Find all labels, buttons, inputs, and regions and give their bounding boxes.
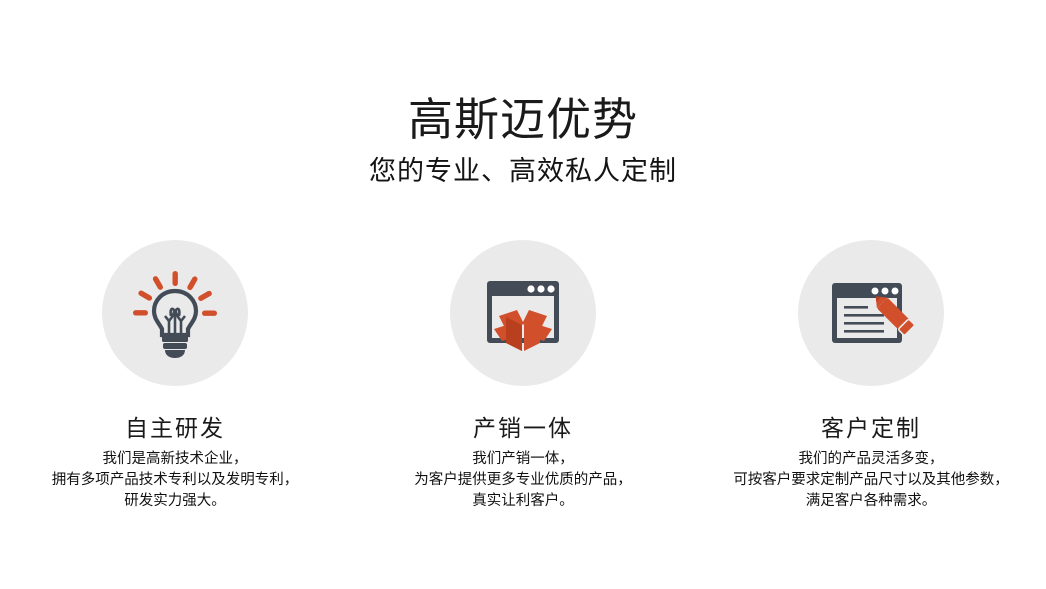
feature-desc-line: 为客户提供更多专业优质的产品，: [414, 470, 632, 491]
feature-desc-2: 我们产销一体， 为客户提供更多专业优质的产品， 真实让利客户。: [414, 449, 632, 512]
feature-desc-line: 我们产销一体，: [414, 449, 632, 470]
feature-desc-line: 我们的产品灵活多变，: [733, 449, 1009, 470]
feature-title-3: 客户定制: [821, 414, 921, 444]
feature-desc-line: 可按客户要求定制产品尺寸以及其他参数，: [733, 470, 1009, 491]
feature-columns: 自主研发 我们是高新技术企业， 拥有多项产品技术专利以及发明专利， 研发实力强大…: [0, 240, 1046, 512]
feature-desc-1: 我们是高新技术企业， 拥有多项产品技术专利以及发明专利， 研发实力强大。: [52, 449, 299, 512]
header: 高斯迈优势 您的专业、高效私人定制: [0, 92, 1046, 188]
feature-title-1: 自主研发: [125, 414, 225, 444]
browser-pencil-icon: [821, 263, 921, 363]
browser-box-icon: [473, 263, 573, 363]
lightbulb-icon: [125, 263, 225, 363]
icon-circle-2: [450, 240, 596, 386]
feature-desc-line: 我们是高新技术企业，: [52, 449, 299, 470]
feature-desc-3: 我们的产品灵活多变， 可按客户要求定制产品尺寸以及其他参数， 满足客户各种需求。: [733, 449, 1009, 512]
icon-circle-1: [102, 240, 248, 386]
feature-column-3: 客户定制 我们的产品灵活多变， 可按客户要求定制产品尺寸以及其他参数， 满足客户…: [697, 240, 1045, 512]
feature-desc-line: 拥有多项产品技术专利以及发明专利，: [52, 470, 299, 491]
feature-desc-line: 满足客户各种需求。: [733, 491, 1009, 512]
page-subtitle: 您的专业、高效私人定制: [0, 154, 1046, 188]
feature-desc-line: 研发实力强大。: [52, 491, 299, 512]
icon-circle-3: [798, 240, 944, 386]
feature-title-2: 产销一体: [473, 414, 573, 444]
advantages-slide: 高斯迈优势 您的专业、高效私人定制: [0, 0, 1046, 589]
feature-column-2: 产销一体 我们产销一体， 为客户提供更多专业优质的产品， 真实让利客户。: [349, 240, 697, 512]
feature-desc-line: 真实让利客户。: [414, 491, 632, 512]
feature-column-1: 自主研发 我们是高新技术企业， 拥有多项产品技术专利以及发明专利， 研发实力强大…: [1, 240, 349, 512]
page-title: 高斯迈优势: [0, 92, 1046, 148]
